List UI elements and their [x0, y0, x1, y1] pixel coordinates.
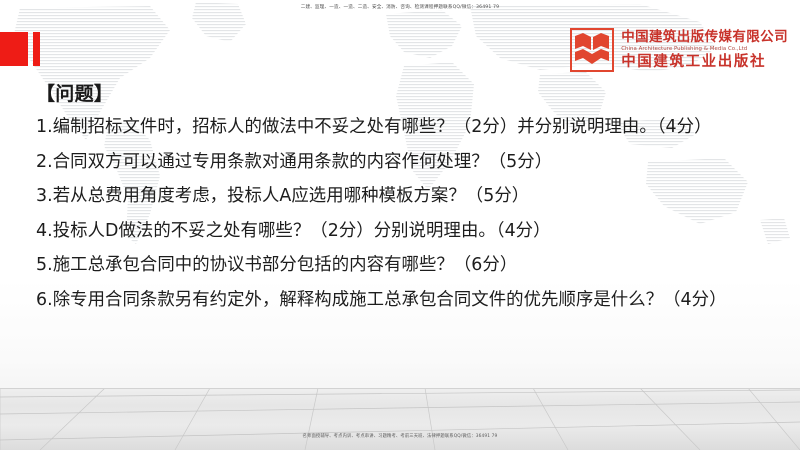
question-item-2: 2.合同双方可以通过专用条款对通用条款的内容作何处理？（5分）: [36, 145, 766, 180]
page-title: 【问题】: [36, 79, 766, 110]
accent-blocks: [0, 32, 40, 66]
question-item-1: 1.编制招标文件时，招标人的做法中不妥之处有哪些？（2分）并分别说明理由。（4分…: [36, 110, 766, 145]
publisher-company-en: China Architecture Publishing & Media Co…: [621, 45, 788, 53]
presentation-slide: 二建、监理、一造、一造、二造、安全、消防、咨询、检测课程押题联系QQ/微信：36…: [0, 0, 800, 450]
question-item-5: 5.施工总承包合同中的协议书部分包括的内容有哪些？（6分）: [36, 248, 766, 283]
floor-horizon-line: [0, 388, 800, 389]
publisher-book-mark-icon: [570, 28, 614, 72]
accent-block-large: [0, 32, 28, 66]
publisher-logo: 中国建筑出版传媒有限公司 China Architecture Publishi…: [570, 26, 788, 74]
publisher-press-cn: 中国建筑工业出版社: [621, 53, 788, 71]
top-banner-text: 二建、监理、一造、一造、二造、安全、消防、咨询、检测课程押题联系QQ/微信：36…: [0, 4, 800, 11]
question-item-4: 4.投标人D做法的不妥之处有哪些？（2分）分别说明理由。（4分）: [36, 214, 766, 249]
publisher-company-cn: 中国建筑出版传媒有限公司: [621, 29, 788, 45]
floor-grid-background: [0, 388, 800, 450]
slide-content: 【问题】 1.编制招标文件时，招标人的做法中不妥之处有哪些？（2分）并分别说明理…: [36, 79, 766, 317]
question-item-6: 6.除专用合同条款另有约定外，解释构成施工总承包合同文件的优先顺序是什么？（4分…: [36, 283, 766, 318]
publisher-logo-text: 中国建筑出版传媒有限公司 China Architecture Publishi…: [621, 29, 788, 71]
question-item-3: 3.若从总费用角度考虑，投标人A应选用哪种模板方案？（5分）: [36, 179, 766, 214]
accent-bar-small: [33, 32, 40, 66]
bottom-banner-text: 名师面授辅导、考点内训、考点串讲、习题精考、考前三天班、法律押题联系QQ/微信：…: [0, 433, 800, 440]
